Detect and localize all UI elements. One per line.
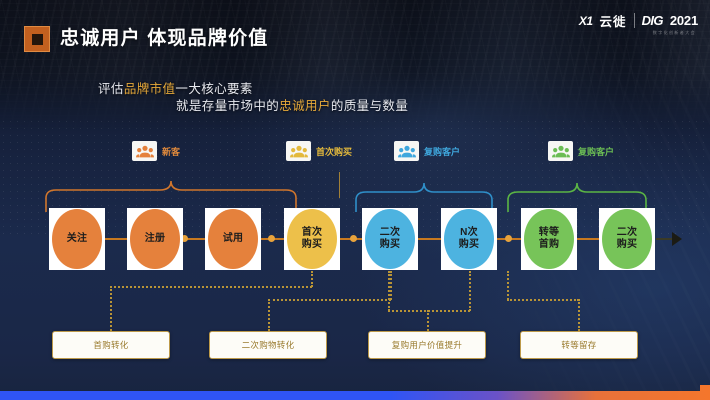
journey-node-7-ellipse: 二次 购买: [602, 209, 652, 269]
journey-node-5-label-line2: 购买: [459, 239, 480, 250]
connector-4-run: [507, 299, 579, 301]
connector-4-rise: [578, 299, 580, 331]
connector-1-run: [110, 286, 312, 288]
journey-node-7-label-line2: 购买: [617, 239, 638, 250]
connector-2-run: [268, 299, 391, 301]
timeline-arrow-icon: [672, 232, 682, 246]
logo-brand-name: 云徙: [600, 11, 627, 30]
segment-legend-label-3: 复购客户: [578, 145, 614, 158]
outcome-box-3[interactable]: 转等留存: [520, 331, 638, 359]
journey-node-4-label: 二次 购买: [380, 227, 401, 252]
journey-node-2-ellipse: 试用: [208, 209, 258, 269]
square-badge-icon: [24, 26, 50, 52]
connector-3-left-drop: [388, 271, 390, 311]
journey-node-4-label-line2: 购买: [380, 239, 401, 250]
people-group-icon: [548, 141, 573, 161]
journey-node-3[interactable]: 首次 购买: [284, 208, 340, 270]
people-group-icon: [132, 141, 157, 161]
group-separator-1: [339, 172, 340, 198]
timeline-dot-2: [350, 235, 357, 242]
outcome-box-2[interactable]: 复购用户价值提升: [368, 331, 486, 359]
subtitle-1-highlight: 品牌市值: [124, 82, 176, 96]
journey-node-0-label: 关注: [67, 233, 88, 246]
subtitle-2-part-a: 就是存量市场中的: [176, 99, 279, 113]
outcome-box-1-label: 二次购物转化: [242, 339, 295, 351]
journey-node-6[interactable]: 转等 首购: [521, 208, 577, 270]
timeline-arrow-tail: [656, 238, 673, 240]
logo-event-year: 2021: [670, 13, 698, 28]
timeline-dot-3: [505, 235, 512, 242]
journey-node-6-label: 转等 首购: [539, 227, 560, 252]
bottom-accent-bar: [0, 391, 710, 400]
journey-node-6-label-line1: 转等: [539, 227, 560, 238]
journey-node-1[interactable]: 注册: [127, 208, 183, 270]
journey-node-7-label: 二次 购买: [617, 227, 638, 252]
journey-node-6-ellipse: 转等 首购: [524, 209, 574, 269]
segment-legend-3: 复购客户: [548, 141, 614, 161]
connector-3-right-drop: [469, 271, 471, 311]
connector-4-drop: [507, 271, 509, 300]
logo-event-name: DIG: [642, 13, 663, 28]
connector-1-drop: [311, 271, 313, 287]
journey-node-0[interactable]: 关注: [49, 208, 105, 270]
subtitle-1-part-a: 评估: [98, 82, 124, 96]
outcome-box-2-label: 复购用户价值提升: [392, 339, 462, 351]
journey-node-3-label: 首次 购买: [302, 227, 323, 252]
outcome-box-0[interactable]: 首购转化: [52, 331, 170, 359]
segment-legend-1: 首次购买: [286, 141, 352, 161]
outcome-box-3-label: 转等留存: [561, 339, 596, 351]
subtitle-2-part-c: 的质量与数量: [331, 99, 408, 113]
journey-node-2[interactable]: 试用: [205, 208, 261, 270]
journey-node-7-label-line1: 二次: [617, 227, 638, 238]
segment-legend-label-0: 新客: [162, 145, 180, 158]
subtitle-1-part-c: 一大核心要素: [175, 82, 252, 96]
journey-node-4-ellipse: 二次 购买: [365, 209, 415, 269]
logo-mark: X1: [579, 14, 593, 28]
journey-node-0-ellipse: 关注: [52, 209, 102, 269]
outcome-box-1[interactable]: 二次购物转化: [209, 331, 327, 359]
connector-1-rise: [110, 286, 112, 331]
segment-legend-0: 新客: [132, 141, 180, 161]
journey-node-5-ellipse: N次 购买: [444, 209, 494, 269]
timeline-dot-1: [268, 235, 275, 242]
subtitle-line-2: 就是存量市场中的忠诚用户的质量与数量: [176, 95, 408, 114]
people-group-icon: [286, 141, 311, 161]
journey-node-5-label: N次 购买: [459, 227, 480, 252]
journey-node-6-label-line2: 首购: [539, 239, 560, 250]
journey-node-4[interactable]: 二次 购买: [362, 208, 418, 270]
segment-legend-label-1: 首次购买: [316, 145, 352, 158]
outcome-box-0-label: 首购转化: [93, 339, 128, 351]
logo-event-subtitle: 数字化创新者大会: [653, 30, 696, 36]
journey-node-7[interactable]: 二次 购买: [599, 208, 655, 270]
journey-node-1-label: 注册: [145, 233, 166, 246]
segment-legend-label-2: 复购客户: [424, 145, 460, 158]
page-title: 忠诚用户 体现品牌价值: [60, 23, 268, 50]
journey-node-5-label-line1: N次: [460, 227, 478, 238]
journey-node-4-label-line1: 二次: [380, 227, 401, 238]
segment-legend-2: 复购客户: [394, 141, 460, 161]
connector-2-drop: [390, 271, 392, 300]
brand-logo: X1 云徙 DIG 2021 数字化创新者大会: [579, 11, 698, 30]
people-group-icon: [394, 141, 419, 161]
journey-node-2-label: 试用: [223, 233, 244, 246]
logo-divider: [634, 13, 635, 28]
journey-node-5[interactable]: N次 购买: [441, 208, 497, 270]
connector-3-run: [388, 310, 470, 312]
journey-node-3-label-line1: 首次: [302, 227, 323, 238]
connector-2-rise: [268, 299, 270, 331]
connector-3-rise: [427, 310, 429, 331]
journey-node-1-ellipse: 注册: [130, 209, 180, 269]
slide-canvas: 忠诚用户 体现品牌价值 评估品牌市值一大核心要素 就是存量市场中的忠诚用户的质量…: [0, 0, 710, 400]
subtitle-2-highlight: 忠诚用户: [279, 99, 331, 113]
journey-node-3-ellipse: 首次 购买: [287, 209, 337, 269]
journey-node-3-label-line2: 购买: [302, 239, 323, 250]
